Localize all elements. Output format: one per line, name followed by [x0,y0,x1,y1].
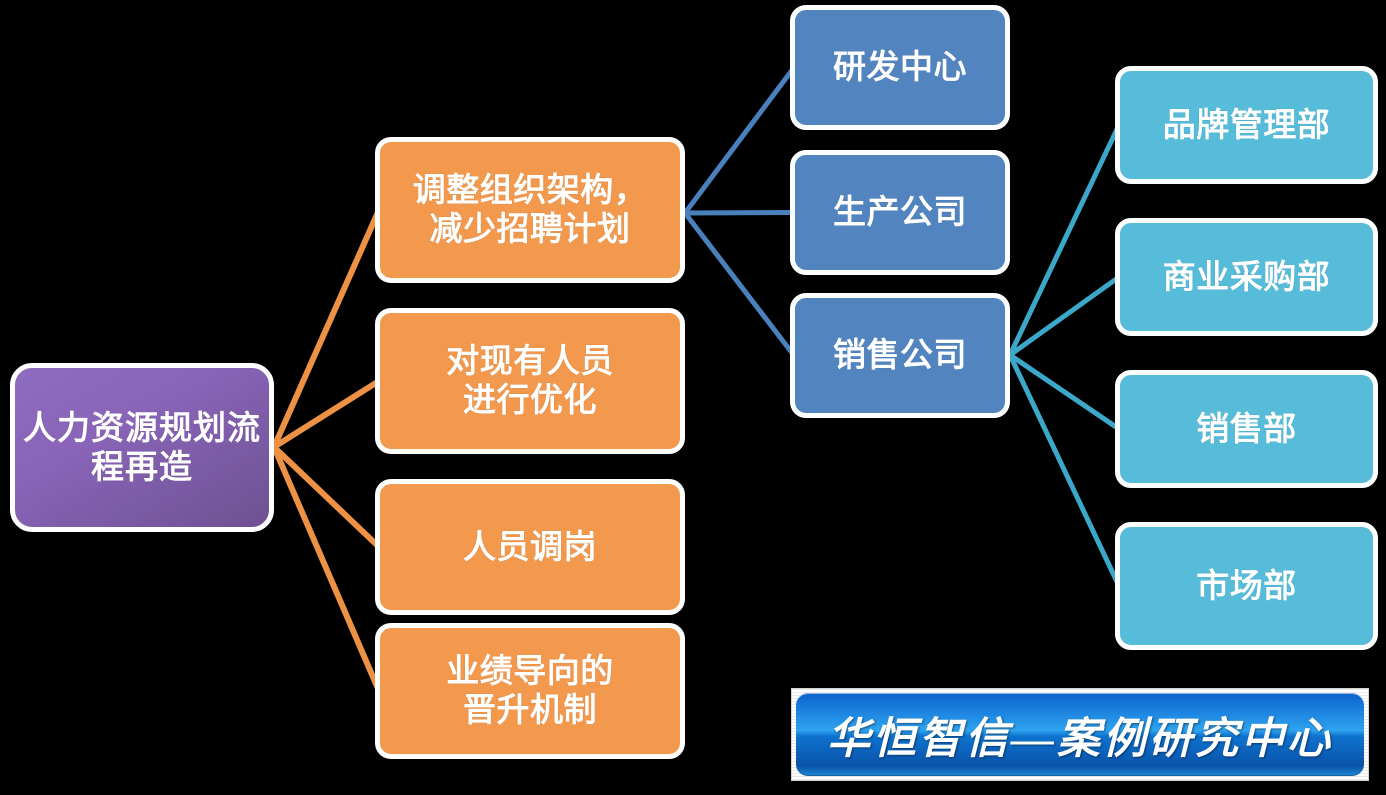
connector-level2-to-level3-3 [1010,355,1119,586]
node-performance-based-promotion[interactable]: 业绩导向的 晋升机制 [375,623,685,759]
connector-root-to-level1-3 [274,447,379,691]
connector-level1-to-level2-2 [685,213,794,356]
node-brand-management-dept[interactable]: 品牌管理部 [1115,66,1378,184]
connector-level2-to-level3-1 [1010,277,1119,355]
node-commercial-purchasing-dept[interactable]: 商业采购部 [1115,218,1378,336]
node-staff-transfer[interactable]: 人员调岗 [375,479,685,615]
footer-banner-plate: 华恒智信—案例研究中心 [796,693,1364,776]
root-to-level1-connectors [274,210,379,691]
connector-root-to-level1-2 [274,447,379,547]
diagram-canvas: 人力资源规划流程再造 调整组织架构， 减少招聘计划 对现有人员 进行优化 人员调… [0,0,1386,795]
node-optimize-existing-staff[interactable]: 对现有人员 进行优化 [375,308,685,454]
level1-to-level2-connectors [685,68,794,356]
connector-level1-to-level2-1 [685,213,794,214]
connector-root-to-level1-0 [274,210,379,447]
footer-banner: 华恒智信—案例研究中心 [791,688,1369,781]
connector-level2-to-level3-2 [1010,355,1119,429]
node-sales-company[interactable]: 销售公司 [790,293,1010,418]
connector-level2-to-level3-0 [1010,125,1119,355]
node-adjust-org-structure-reduce-hiring[interactable]: 调整组织架构， 减少招聘计划 [375,137,685,283]
level2-to-level3-connectors [1010,125,1119,586]
node-production-company[interactable]: 生产公司 [790,150,1010,275]
node-root-hr-planning-reengineering[interactable]: 人力资源规划流程再造 [10,363,274,532]
node-marketing-dept[interactable]: 市场部 [1115,522,1378,650]
footer-banner-text: 华恒智信—案例研究中心 [827,704,1333,766]
node-rd-center[interactable]: 研发中心 [790,5,1010,130]
node-sales-dept[interactable]: 销售部 [1115,370,1378,488]
connector-level1-to-level2-0 [685,68,794,214]
connector-root-to-level1-1 [274,381,379,447]
